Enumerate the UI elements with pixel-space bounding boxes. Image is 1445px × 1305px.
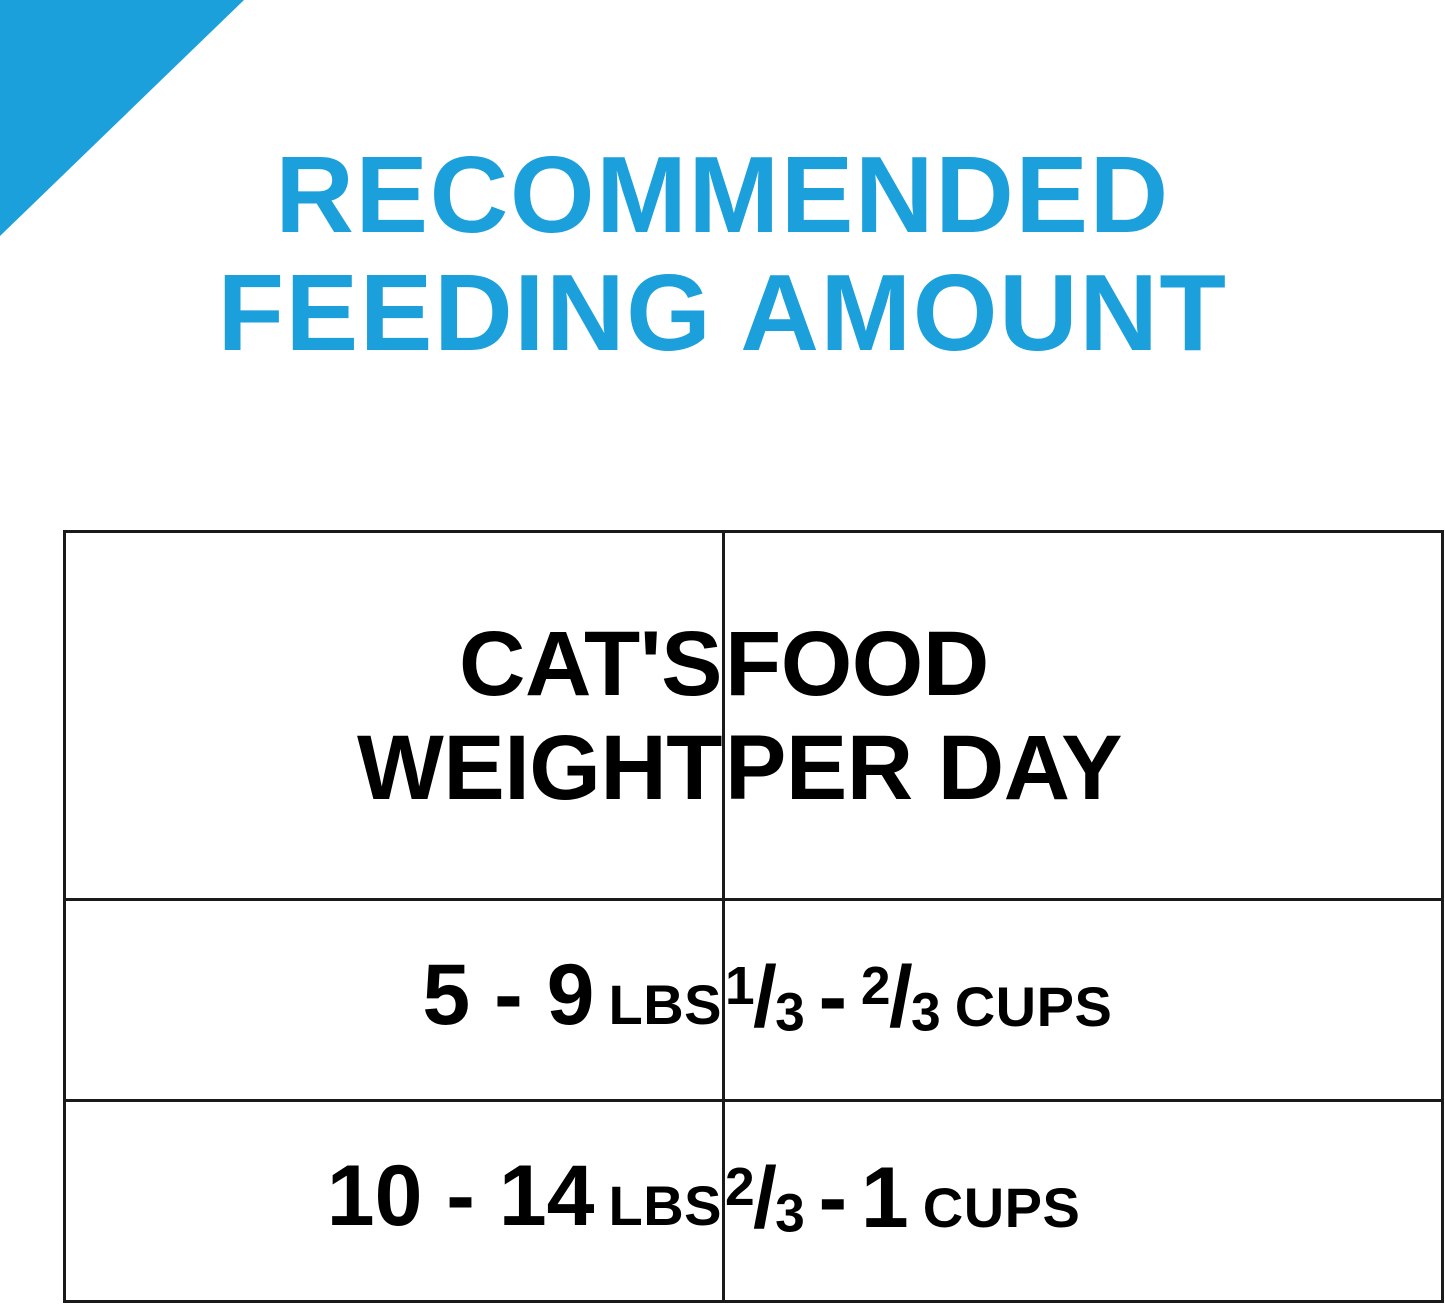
cell-cats-weight: 5 - 9LBS bbox=[65, 900, 724, 1101]
weight-unit: LBS bbox=[609, 973, 723, 1036]
range-separator: - bbox=[819, 1150, 848, 1246]
fraction-denominator: 3 bbox=[911, 983, 941, 1042]
feeding-guide-page: RECOMMENDED FEEDING AMOUNT CAT'S WEIGHT … bbox=[0, 0, 1445, 1305]
fraction-one-third: 1/3 bbox=[725, 944, 805, 1057]
fraction-slash-icon: / bbox=[889, 949, 913, 1045]
fraction-slash-icon: / bbox=[753, 949, 777, 1045]
page-title: RECOMMENDED FEEDING AMOUNT bbox=[0, 136, 1445, 372]
cell-cats-weight: 10 - 14LBS bbox=[65, 1101, 724, 1302]
weight-range-value: 5 - 9 bbox=[422, 947, 594, 1043]
fraction-numerator: 2 bbox=[861, 957, 891, 1016]
food-range: 2/3-1CUPS bbox=[725, 1150, 1080, 1246]
fraction-numerator: 2 bbox=[725, 1158, 755, 1217]
feeding-amount-table: CAT'S WEIGHT FOOD PER DAY 5 - 9LBS 1/3-2… bbox=[63, 530, 1444, 1303]
food-unit: CUPS bbox=[955, 975, 1113, 1038]
weight-range-value: 10 - 14 bbox=[327, 1148, 595, 1244]
weight-unit: LBS bbox=[609, 1174, 723, 1237]
fraction-numerator: 1 bbox=[725, 957, 755, 1016]
food-range: 1/3-2/3CUPS bbox=[725, 949, 1112, 1045]
fraction-denominator: 3 bbox=[775, 1184, 805, 1243]
table-row: 5 - 9LBS 1/3-2/3CUPS bbox=[65, 900, 1443, 1101]
fraction-denominator: 3 bbox=[775, 983, 805, 1042]
cell-food-per-day: 1/3-2/3CUPS bbox=[724, 900, 1443, 1101]
food-unit: CUPS bbox=[923, 1176, 1081, 1239]
page-title-line-2: FEEDING AMOUNT bbox=[0, 254, 1445, 372]
column-header-food-per-day: FOOD PER DAY bbox=[724, 532, 1443, 900]
range-separator: - bbox=[819, 949, 848, 1045]
fraction-two-thirds: 2/3 bbox=[725, 1145, 805, 1258]
column-header-cats-weight: CAT'S WEIGHT bbox=[65, 532, 724, 900]
fraction-two-thirds: 2/3 bbox=[861, 944, 941, 1057]
page-title-line-1: RECOMMENDED bbox=[0, 136, 1445, 254]
table-header-row: CAT'S WEIGHT FOOD PER DAY bbox=[65, 532, 1443, 900]
table-row: 10 - 14LBS 2/3-1CUPS bbox=[65, 1101, 1443, 1302]
weight-range: 5 - 9LBS bbox=[422, 947, 722, 1043]
fraction-slash-icon: / bbox=[753, 1150, 777, 1246]
whole-number-one: 1 bbox=[861, 1150, 909, 1246]
weight-range: 10 - 14LBS bbox=[327, 1148, 722, 1244]
cell-food-per-day: 2/3-1CUPS bbox=[724, 1101, 1443, 1302]
